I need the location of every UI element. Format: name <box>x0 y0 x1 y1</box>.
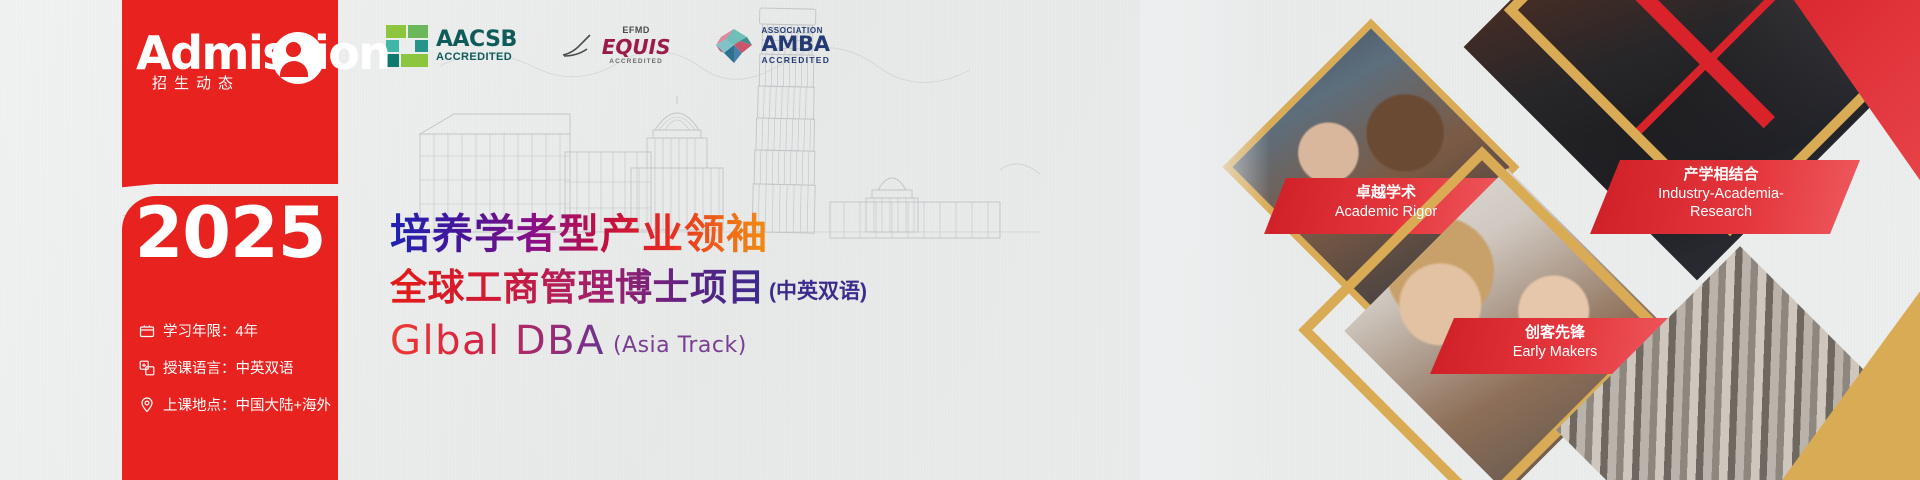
amba-accredited-label: ACCREDITED <box>761 56 830 65</box>
equis-name: EQUIS <box>602 37 671 57</box>
badge-makers-cn: 创客先锋 <box>1430 323 1680 343</box>
aacsb-accredited-label: ACCREDITED <box>436 52 517 63</box>
headline-program-row: 全球工商管理博士项目 (中英双语) <box>390 268 867 309</box>
info-row-duration: 学习年限：4年 <box>138 320 338 341</box>
aacsb-logo-icon <box>385 24 429 68</box>
collage-left-fade <box>1140 0 1270 480</box>
calendar-icon <box>138 322 155 339</box>
headline-tagline: 培养学者型产业领袖 <box>390 212 867 258</box>
aacsb-name: AACSB <box>436 29 517 51</box>
headline-program-cn: 全球工商管理博士项目 <box>390 268 765 309</box>
amba-name: AMBA <box>761 34 830 55</box>
badge-makers: 创客先锋 Early Makers <box>1430 323 1680 361</box>
info-row-language: 授课语言：中英双语 <box>138 357 338 378</box>
headline-block: 培养学者型产业领袖 全球工商管理博士项目 (中英双语) Glbal DBA (A… <box>390 212 867 361</box>
info-row-location: 上课地点：中国大陆+海外 <box>138 394 338 415</box>
accreditation-equis: EFMD EQUIS ACCREDITED <box>561 26 671 66</box>
equis-accredited-label: ACCREDITED <box>602 59 671 66</box>
badge-academic: 卓越学术 Academic Rigor <box>1264 183 1508 221</box>
equis-swoosh-icon <box>561 33 595 59</box>
badge-industry: 产学相结合 Industry-Academia- Research <box>1590 165 1852 222</box>
badge-industry-en2: Research <box>1590 203 1852 222</box>
year-label: 2025 <box>122 198 338 268</box>
efmd-label: EFMD <box>602 26 671 35</box>
language-icon <box>138 359 155 376</box>
headline-program-en-row: Glbal DBA (Asia Track) <box>390 321 867 361</box>
info-text-language: 授课语言：中英双语 <box>163 357 294 378</box>
photo-collage: 卓越学术 Academic Rigor 产学相结合 Industry-Acade… <box>1140 0 1920 480</box>
badge-industry-cn: 产学相结合 <box>1590 165 1852 185</box>
badge-academic-en: Academic Rigor <box>1264 203 1508 222</box>
accreditation-aacsb: AACSB ACCREDITED <box>385 24 517 68</box>
badge-academic-cn: 卓越学术 <box>1264 183 1508 203</box>
admission-wordmark-cn: 招生动态 <box>152 72 240 93</box>
admission-logo: Admission 招生动态 <box>122 24 338 114</box>
info-text-location: 上课地点：中国大陆+海外 <box>163 394 331 415</box>
info-text-duration: 学习年限：4年 <box>163 320 258 341</box>
accreditation-amba: ASSOCIATION AMBA ACCREDITED <box>714 27 830 65</box>
headline-program-en: Glbal DBA <box>390 321 605 361</box>
admission-wordmark: Admission <box>136 30 390 76</box>
amba-diamond-icon <box>714 27 754 65</box>
badge-industry-en: Industry-Academia- <box>1590 185 1852 204</box>
headline-program-bilingual-note: (中英双语) <box>769 275 867 309</box>
location-pin-icon <box>138 396 155 413</box>
program-info-list: 学习年限：4年 授课语言：中英双语 <box>138 320 338 431</box>
admission-banner: AACSB ACCREDITED EFMD EQUIS ACCREDITED <box>0 0 1920 480</box>
accreditation-logos: AACSB ACCREDITED EFMD EQUIS ACCREDITED <box>385 24 830 68</box>
badge-makers-en: Early Makers <box>1430 343 1680 362</box>
left-red-panel: Admission 招生动态 2025 学习年限：4年 <box>122 0 338 480</box>
headline-program-track: (Asia Track) <box>613 333 747 361</box>
admission-person-badge-icon <box>272 32 324 84</box>
